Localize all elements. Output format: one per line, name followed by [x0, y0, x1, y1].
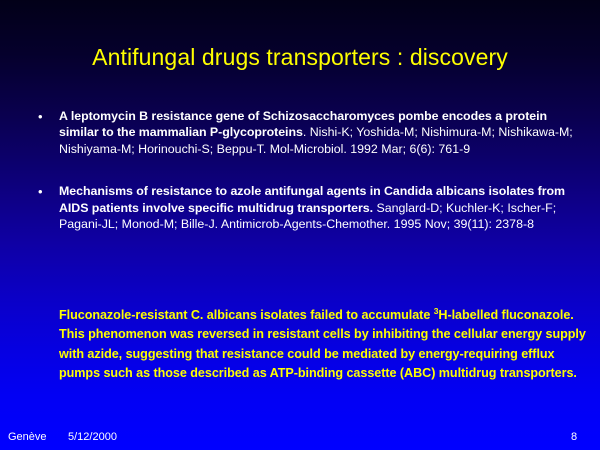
bullet-text-1: A leptomycin B resistance gene of Schizo… — [59, 108, 586, 157]
footer-date: 5/12/2000 — [68, 431, 117, 444]
bullet-text-2: Mechanisms of resistance to azole antifu… — [59, 183, 586, 232]
list-item: • Mechanisms of resistance to azole anti… — [30, 183, 586, 232]
highlight-part-1: Fluconazole-resistant C. albicans isolat… — [59, 308, 434, 322]
slide-canvas: Antifungal drugs transporters : discover… — [0, 0, 600, 450]
footer-page-number: 8 — [571, 431, 577, 444]
bullet-marker: • — [38, 108, 43, 125]
list-item: • A leptomycin B resistance gene of Schi… — [30, 108, 586, 157]
page-title: Antifungal drugs transporters : discover… — [0, 44, 600, 71]
highlight-paragraph: Fluconazole-resistant C. albicans isolat… — [59, 306, 589, 383]
footer-place: Genève — [8, 431, 47, 444]
bullet-marker: • — [38, 183, 43, 200]
slide-body: • A leptomycin B resistance gene of Schi… — [30, 108, 586, 232]
